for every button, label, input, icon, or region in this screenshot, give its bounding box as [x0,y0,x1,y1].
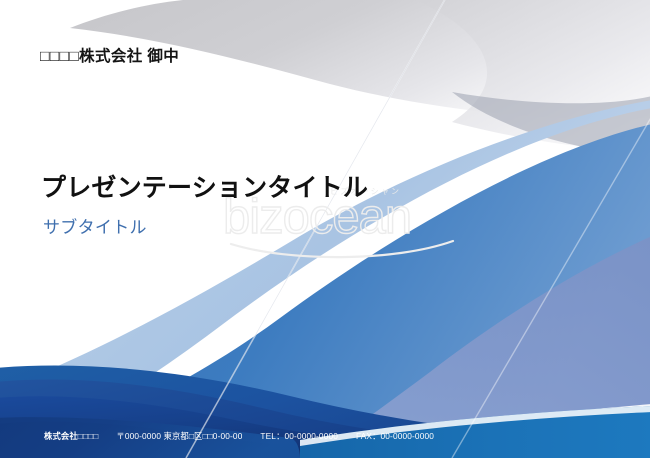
footer-contact-info: 株式会社□□□□ 〒000-0000 東京都□区□□0-00-00 TEL：00… [44,430,434,442]
presentation-slide: ビズオーシャン bizocean □□□□株式会社 御中 プレゼンテーションタイ… [0,0,650,458]
page-subtitle: サブタイトル [43,213,147,238]
footer-telephone: TEL：00-0000-0000 [260,431,338,441]
page-title: プレゼンテーションタイトル [41,168,368,204]
footer-fax: FAX：00-0000-0000 [356,431,434,441]
watermark-swoosh-icon [229,238,455,264]
addressee-line: □□□□株式会社 御中 [40,44,179,66]
footer-company-name: 株式会社□□□□ [44,431,98,441]
footer-postal-address: 〒000-0000 東京都□区□□0-00-00 [116,431,242,441]
